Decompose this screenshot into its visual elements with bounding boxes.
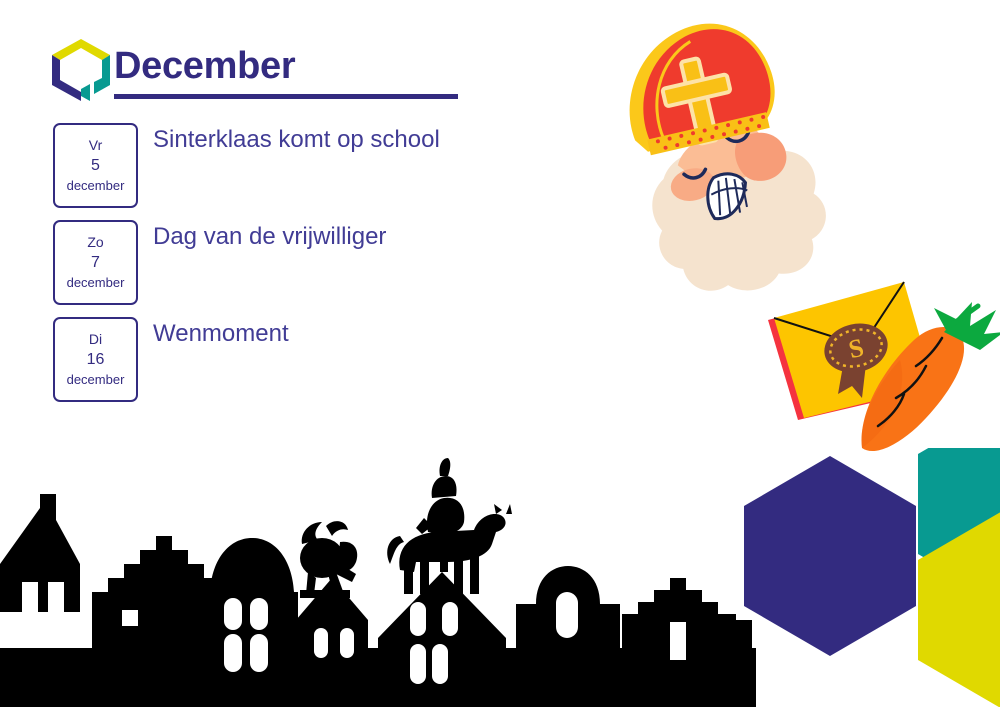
list-item[interactable]: Zo 7 december Dag van de vrijwilliger	[53, 220, 613, 305]
sinterklaas-head-icon	[620, 14, 830, 294]
letter-and-carrot-icon: S	[758, 268, 1000, 458]
date-weekday: Vr	[89, 136, 102, 155]
poster-header: December	[50, 36, 470, 106]
date-month: december	[67, 176, 125, 195]
hexagon-cluster-icon	[742, 448, 1000, 707]
date-weekday: Zo	[87, 233, 103, 252]
date-box: Di 16 december	[53, 317, 138, 402]
date-day: 16	[87, 349, 105, 370]
list-item[interactable]: Di 16 december Wenmoment	[53, 317, 613, 402]
date-month: december	[67, 370, 125, 389]
dutch-city-skyline-silhouette	[0, 452, 756, 707]
list-item[interactable]: Vr 5 december Sinterklaas komt op school	[53, 123, 613, 208]
date-month: december	[67, 273, 125, 292]
date-box: Zo 7 december	[53, 220, 138, 305]
event-list: Vr 5 december Sinterklaas komt op school…	[53, 123, 613, 414]
title-underline-rule	[114, 94, 458, 99]
december-calendar-poster: December Vr 5 december Sinterklaas komt …	[0, 0, 1000, 707]
event-title: Dag van de vrijwilliger	[153, 222, 386, 252]
hexagon-q-logo-icon	[50, 38, 112, 102]
piet-on-roof-figure	[300, 521, 357, 598]
event-title: Sinterklaas komt op school	[153, 125, 440, 155]
seal-letter: S	[846, 333, 867, 365]
event-title: Wenmoment	[153, 319, 289, 349]
date-day: 7	[91, 252, 100, 273]
sinterklaas-on-horse-figure	[387, 458, 512, 594]
date-day: 5	[91, 155, 100, 176]
date-box: Vr 5 december	[53, 123, 138, 208]
page-title: December	[114, 34, 295, 98]
date-weekday: Di	[89, 330, 102, 349]
